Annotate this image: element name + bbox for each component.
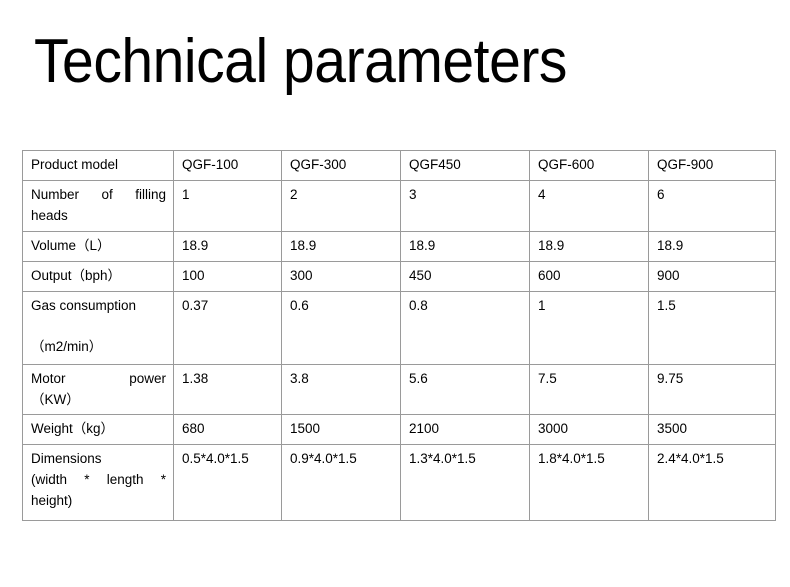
cell-value: 18.9 <box>401 231 530 261</box>
cell-value: 1.5 <box>649 291 776 364</box>
row-label-volume: Volume（L） <box>23 231 174 261</box>
cell-value: 1.3*4.0*1.5 <box>401 445 530 521</box>
row-label-line: Number of filling <box>31 185 166 206</box>
value-text: 3000 <box>538 419 641 440</box>
cell-value: 0.37 <box>174 291 282 364</box>
value-text: 1.5 <box>657 296 768 317</box>
row-label-line: Volume（L） <box>31 236 166 257</box>
cell-value: 900 <box>649 261 776 291</box>
value-text: 1.8*4.0*1.5 <box>538 449 641 470</box>
cell-value: 18.9 <box>530 231 649 261</box>
cell-value: 3500 <box>649 415 776 445</box>
row-label-gas-consumption: Gas consumption （m2/min） <box>23 291 174 364</box>
value-text: 7.5 <box>538 369 641 390</box>
row-label-number-of-filling-heads: Number of filling heads <box>23 180 174 231</box>
cell-value: 3000 <box>530 415 649 445</box>
row-label-output: Output（bph） <box>23 261 174 291</box>
value-text: 5.6 <box>409 369 522 390</box>
cell-value: 7.5 <box>530 364 649 415</box>
row-label-spacer <box>31 317 166 338</box>
row-label-line: Weight（kg） <box>31 419 166 440</box>
cell-value: 2.4*4.0*1.5 <box>649 445 776 521</box>
header-cell-model-2: QGF-300 <box>282 151 401 181</box>
cell-value: 680 <box>174 415 282 445</box>
value-text: 18.9 <box>538 236 641 257</box>
value-text: 1.38 <box>182 369 274 390</box>
cell-value: 300 <box>282 261 401 291</box>
header-cell-model-5: QGF-900 <box>649 151 776 181</box>
row-label-line: （m2/min） <box>31 337 166 358</box>
technical-parameters-table: Product model QGF-100 QGF-300 QGF450 QGF… <box>22 150 776 521</box>
value-text: 0.6 <box>290 296 393 317</box>
value-text: 1 <box>182 185 274 206</box>
value-text: 18.9 <box>290 236 393 257</box>
value-text: 0.8 <box>409 296 522 317</box>
header-cell-model-1: QGF-100 <box>174 151 282 181</box>
cell-value: 18.9 <box>174 231 282 261</box>
header-label: Product model <box>31 155 166 176</box>
value-text: 450 <box>409 266 522 287</box>
cell-value: 4 <box>530 180 649 231</box>
table-row: Volume（L） 18.9 18.9 18.9 18.9 18.9 <box>23 231 776 261</box>
value-text: 1 <box>538 296 641 317</box>
value-text: 2100 <box>409 419 522 440</box>
row-label-line: （KW） <box>31 390 166 411</box>
value-text: 0.37 <box>182 296 274 317</box>
value-text: 600 <box>538 266 641 287</box>
cell-value: 1.38 <box>174 364 282 415</box>
row-label-line: heads <box>31 206 166 227</box>
value-text: 1.3*4.0*1.5 <box>409 449 522 470</box>
cell-value: 1 <box>530 291 649 364</box>
header-label: QGF450 <box>409 155 522 176</box>
cell-value: 1500 <box>282 415 401 445</box>
table-row: Motor power （KW） 1.38 3.8 5.6 7.5 9.75 <box>23 364 776 415</box>
value-text: 18.9 <box>409 236 522 257</box>
header-label: QGF-600 <box>538 155 641 176</box>
cell-value: 1.8*4.0*1.5 <box>530 445 649 521</box>
cell-value: 9.75 <box>649 364 776 415</box>
table-row: Gas consumption （m2/min） 0.37 0.6 0.8 1 … <box>23 291 776 364</box>
page-title: Technical parameters <box>34 28 567 96</box>
value-text: 6 <box>657 185 768 206</box>
value-text: 18.9 <box>182 236 274 257</box>
value-text: 18.9 <box>657 236 768 257</box>
row-label-line: Motor power <box>31 369 166 390</box>
value-text: 3 <box>409 185 522 206</box>
header-label: QGF-100 <box>182 155 274 176</box>
value-text: 100 <box>182 266 274 287</box>
header-cell-product-model: Product model <box>23 151 174 181</box>
value-text: 2.4*4.0*1.5 <box>657 449 768 470</box>
value-text: 0.9*4.0*1.5 <box>290 449 393 470</box>
table-row: Output（bph） 100 300 450 600 900 <box>23 261 776 291</box>
value-text: 3500 <box>657 419 768 440</box>
header-cell-model-4: QGF-600 <box>530 151 649 181</box>
row-label-line: Dimensions <box>31 449 166 470</box>
value-text: 680 <box>182 419 274 440</box>
cell-value: 2 <box>282 180 401 231</box>
header-cell-model-3: QGF450 <box>401 151 530 181</box>
value-text: 3.8 <box>290 369 393 390</box>
row-label-line: Gas consumption <box>31 296 166 317</box>
cell-value: 100 <box>174 261 282 291</box>
cell-value: 0.9*4.0*1.5 <box>282 445 401 521</box>
value-text: 9.75 <box>657 369 768 390</box>
table-row: Dimensions (width * length * height) 0.5… <box>23 445 776 521</box>
table-row: Weight（kg） 680 1500 2100 3000 3500 <box>23 415 776 445</box>
value-text: 4 <box>538 185 641 206</box>
cell-value: 0.8 <box>401 291 530 364</box>
cell-value: 450 <box>401 261 530 291</box>
value-text: 0.5*4.0*1.5 <box>182 449 274 470</box>
header-label: QGF-300 <box>290 155 393 176</box>
cell-value: 5.6 <box>401 364 530 415</box>
value-text: 300 <box>290 266 393 287</box>
value-text: 2 <box>290 185 393 206</box>
table-header-row: Product model QGF-100 QGF-300 QGF450 QGF… <box>23 151 776 181</box>
table-row: Number of filling heads 1 2 3 4 6 <box>23 180 776 231</box>
row-label-line: Output（bph） <box>31 266 166 287</box>
cell-value: 6 <box>649 180 776 231</box>
value-text: 1500 <box>290 419 393 440</box>
cell-value: 0.5*4.0*1.5 <box>174 445 282 521</box>
cell-value: 0.6 <box>282 291 401 364</box>
row-label-line: (width * length * <box>31 470 166 491</box>
cell-value: 3.8 <box>282 364 401 415</box>
cell-value: 18.9 <box>282 231 401 261</box>
cell-value: 18.9 <box>649 231 776 261</box>
cell-value: 3 <box>401 180 530 231</box>
cell-value: 1 <box>174 180 282 231</box>
row-label-line: height) <box>31 491 166 512</box>
row-label-dimensions: Dimensions (width * length * height) <box>23 445 174 521</box>
row-label-weight: Weight（kg） <box>23 415 174 445</box>
cell-value: 600 <box>530 261 649 291</box>
value-text: 900 <box>657 266 768 287</box>
row-label-motor-power: Motor power （KW） <box>23 364 174 415</box>
cell-value: 2100 <box>401 415 530 445</box>
header-label: QGF-900 <box>657 155 768 176</box>
